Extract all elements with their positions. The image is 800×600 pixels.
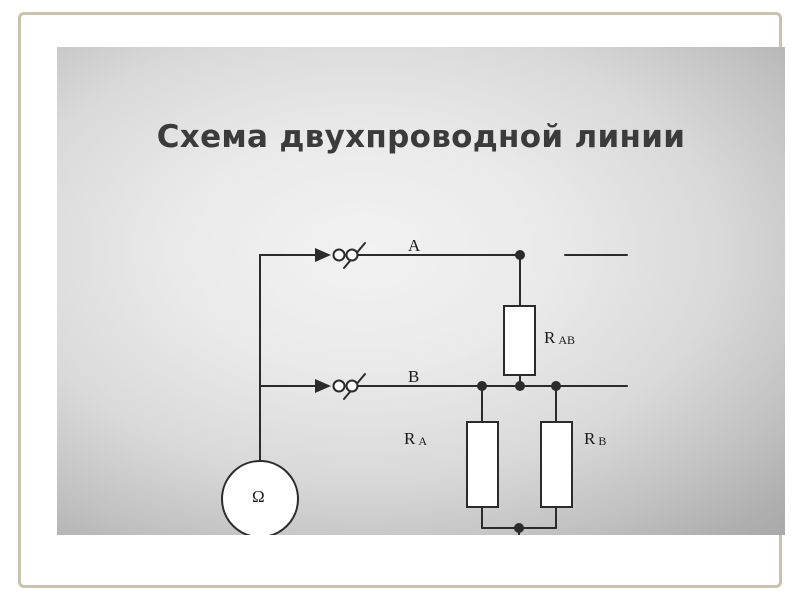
junction-dot-bottom	[514, 523, 524, 533]
switch-b-terminal-right	[347, 381, 358, 392]
label-terminal-a: A	[408, 236, 420, 256]
switch-b-terminal-left	[334, 381, 345, 392]
resistor-a-body	[467, 422, 498, 507]
switch-a-terminal-left	[334, 250, 345, 261]
label-resistor-a: RA	[404, 429, 427, 449]
switch-a-terminal-right	[347, 250, 358, 261]
junction-dot-ra	[477, 381, 487, 391]
arrow-heads	[315, 248, 331, 393]
junction-dot-rb	[551, 381, 561, 391]
arrow-head-a	[315, 248, 331, 262]
arrow-head-b	[315, 379, 331, 393]
label-terminal-b: B	[408, 367, 419, 387]
label-resistor-b: RB	[584, 429, 606, 449]
junction-dot-ab	[515, 381, 525, 391]
circuit-schematic	[57, 47, 785, 535]
resistor-b-body	[541, 422, 572, 507]
junction-dot-a	[515, 250, 525, 260]
slide-content-panel: Схема двухпроводной линии	[57, 47, 785, 535]
switch-terminals	[334, 250, 358, 392]
slide-border-frame: Схема двухпроводной линии	[18, 12, 782, 588]
resistor-ab-body	[504, 306, 535, 375]
slide-canvas: Схема двухпроводной линии	[0, 0, 800, 600]
label-resistor-ab: RAB	[544, 328, 575, 348]
label-ohmmeter: Ω	[252, 487, 265, 507]
